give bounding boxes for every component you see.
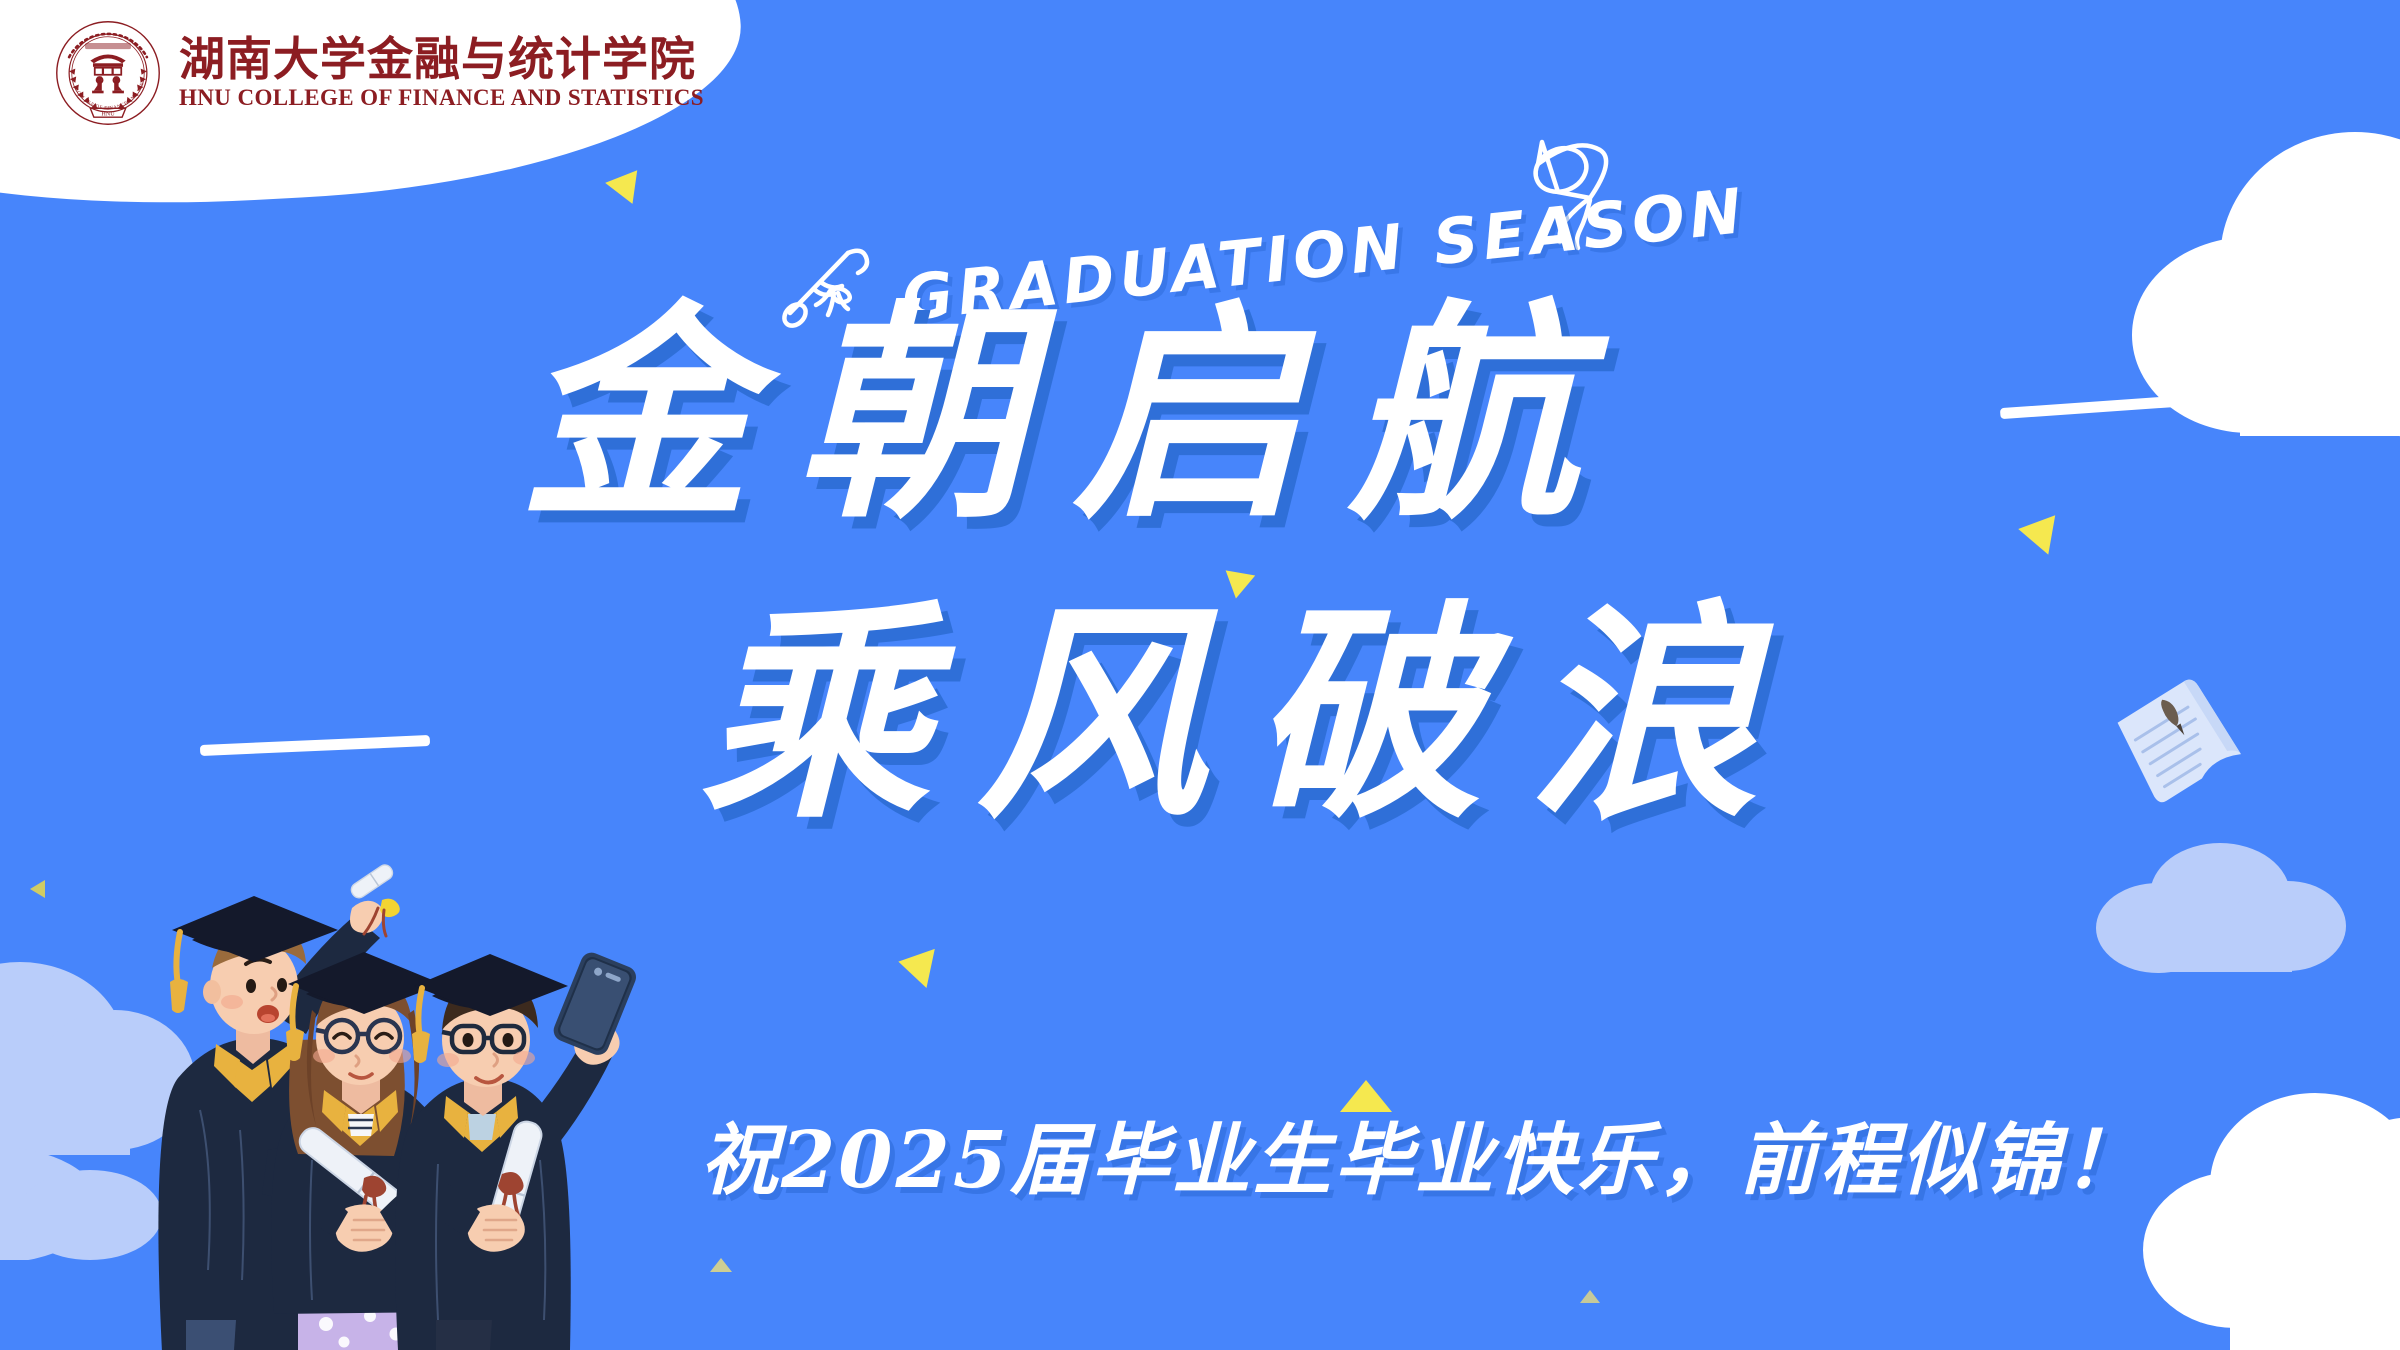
graduation-wish-text: 祝2025届毕业生毕业快乐，前程似锦！ bbox=[700, 1098, 2144, 1210]
triangle-confetti-left bbox=[30, 880, 45, 898]
triangle-lower-left bbox=[894, 942, 935, 988]
triangle-confetti-bottom bbox=[710, 1258, 732, 1272]
triangle-top-left bbox=[603, 166, 637, 204]
cloud-top-right bbox=[2130, 110, 2400, 440]
headline-line-1: 金朝启航 bbox=[520, 300, 1624, 530]
logo-chinese-name: 湖南大学金融与统计学院 bbox=[179, 35, 704, 83]
document-sheet-icon bbox=[2108, 676, 2248, 812]
triangle-right-upper bbox=[2015, 509, 2055, 554]
dash-left-mid bbox=[200, 735, 430, 756]
triangle-confetti-bottom-2 bbox=[1580, 1290, 1600, 1303]
college-logo: HNU COLLEGE OF FINANCE AND STATISTICS 湖南… bbox=[55, 20, 704, 126]
graduation-poster: HNU COLLEGE OF FINANCE AND STATISTICS 湖南… bbox=[0, 0, 2400, 1350]
cloud-bottom-right bbox=[2140, 1035, 2400, 1350]
graduate-right-holding-phone bbox=[395, 949, 639, 1350]
seal-ribbon-text: HNU bbox=[101, 110, 115, 117]
cloud-mid-right bbox=[2092, 840, 2352, 975]
logo-english-name: HNU COLLEGE OF FINANCE AND STATISTICS bbox=[179, 85, 704, 111]
headline-line-2: 乘风破浪 bbox=[700, 600, 1804, 830]
three-graduates-selfie bbox=[120, 790, 640, 1350]
hnu-seal-emblem: HNU COLLEGE OF FINANCE AND STATISTICS bbox=[55, 20, 161, 126]
dash-right-upper bbox=[2000, 392, 2235, 419]
